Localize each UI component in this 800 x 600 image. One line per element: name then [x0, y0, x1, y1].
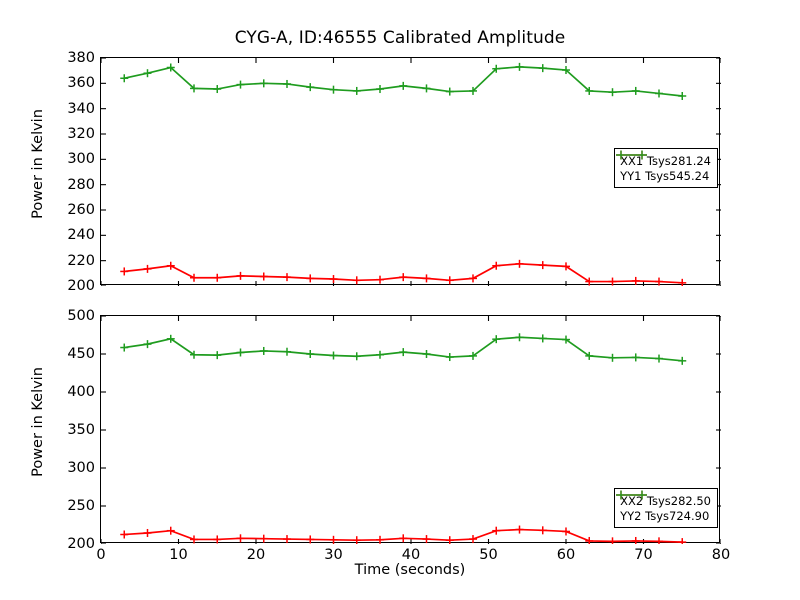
- x-tick-label: 60: [557, 547, 575, 563]
- y-tick-label: 200: [67, 278, 95, 294]
- x-tick-label: 20: [247, 547, 265, 563]
- x-tick-label: 70: [634, 547, 652, 563]
- y-tick-label: 320: [67, 126, 95, 142]
- figure-canvas: CYG-A, ID:46555 Calibrated Amplitude Pow…: [0, 0, 800, 600]
- y-tick-label: 500: [67, 308, 95, 324]
- y-tick-label: 260: [67, 202, 95, 218]
- y-tick-label: 360: [67, 75, 95, 91]
- y-tick-label: 400: [67, 384, 95, 400]
- plot-panel-top[interactable]: Power in Kelvin 200220240260280300320340…: [100, 57, 720, 285]
- x-tick-label: 30: [324, 547, 342, 563]
- y-tick-label: 300: [67, 460, 95, 476]
- legend-item: YY1 Tsys545.24: [620, 168, 711, 183]
- y-axis-label-bottom: Power in Kelvin: [30, 342, 46, 502]
- legend-marker-yy1-icon: [615, 149, 648, 161]
- legend-bottom[interactable]: XX2 Tsys282.50 YY2 Tsys724.90: [614, 488, 718, 528]
- y-tick-label: 280: [67, 177, 95, 193]
- legend-label-yy1: YY1 Tsys545.24: [620, 169, 709, 183]
- y-tick-label: 380: [67, 50, 95, 66]
- y-tick-label: 220: [67, 253, 95, 269]
- plot-panel-bottom[interactable]: Power in Kelvin 200250300350400450500 01…: [100, 315, 720, 543]
- x-tick-label: 0: [96, 547, 105, 563]
- y-tick-label: 200: [67, 536, 95, 552]
- x-tick-label: 10: [169, 547, 187, 563]
- x-tick-label: 80: [712, 547, 730, 563]
- legend-label-yy2: YY2 Tsys724.90: [620, 509, 709, 523]
- y-tick-label: 300: [67, 151, 95, 167]
- y-tick-label: 250: [67, 498, 95, 514]
- legend-top[interactable]: XX1 Tsys281.24 YY1 Tsys545.24: [614, 148, 718, 188]
- page-title: CYG-A, ID:46555 Calibrated Amplitude: [0, 28, 800, 48]
- x-tick-label: 40: [402, 547, 420, 563]
- y-axis-label-top: Power in Kelvin: [30, 84, 46, 244]
- y-tick-label: 450: [67, 346, 95, 362]
- x-tick-label: 50: [479, 547, 497, 563]
- x-axis-label: Time (seconds): [100, 562, 720, 578]
- y-tick-label: 240: [67, 227, 95, 243]
- y-tick-label: 340: [67, 101, 95, 117]
- legend-marker-yy2-icon: [615, 489, 648, 501]
- legend-item: YY2 Tsys724.90: [620, 508, 711, 523]
- y-tick-label: 350: [67, 422, 95, 438]
